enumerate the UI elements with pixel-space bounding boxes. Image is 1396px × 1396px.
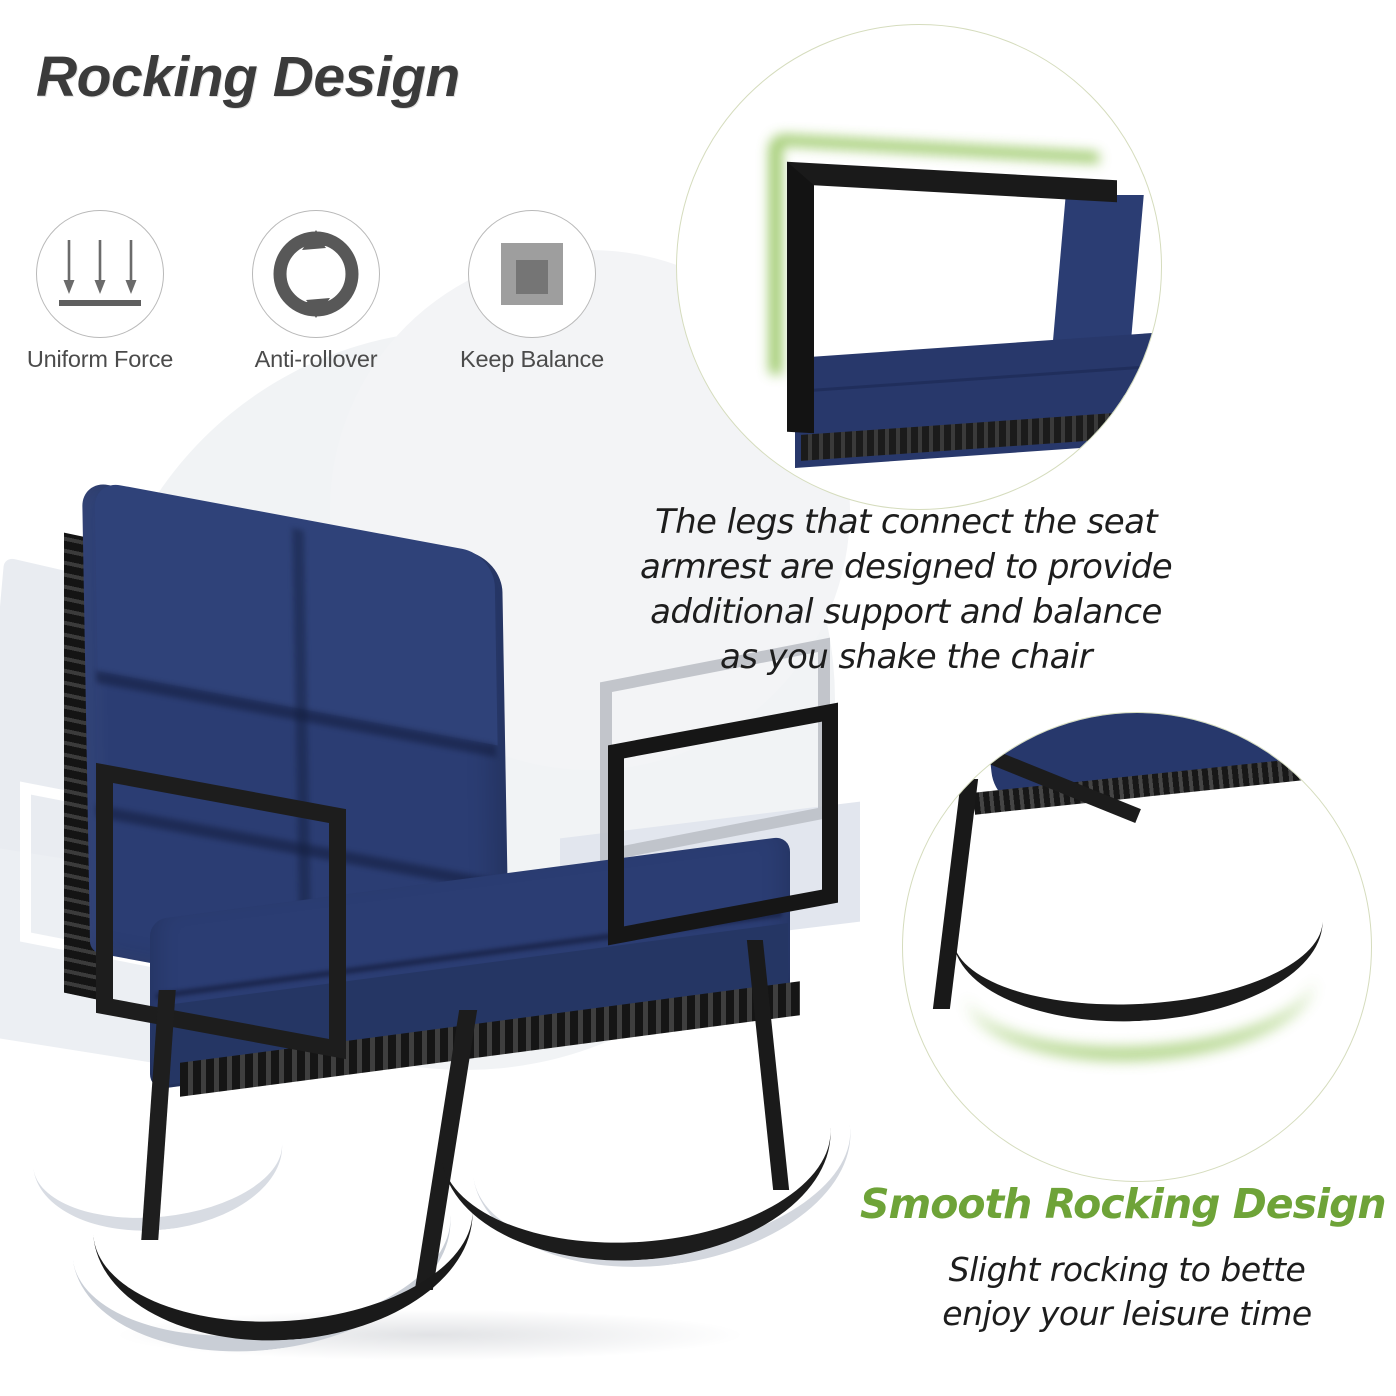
- nested-squares-icon: [468, 210, 596, 338]
- description-line: additional support and balance: [618, 590, 1194, 635]
- down-arrows-on-bar-glyph: [57, 234, 143, 314]
- caption-line: Slight rocking to bette: [858, 1248, 1396, 1292]
- smooth-rocking-caption: Slight rocking to bette enjoy your leisu…: [858, 1248, 1396, 1336]
- armrest-right: [608, 703, 838, 946]
- feature-list: Uniform Force Anti-rollover Keep Balance: [20, 210, 612, 373]
- nested-squares-inner: [516, 260, 548, 294]
- description-line: The legs that connect the seat: [618, 500, 1194, 545]
- feature-label: Uniform Force: [20, 346, 180, 373]
- feature-item-uniform-force: Uniform Force: [20, 210, 180, 373]
- armrest-left: [96, 763, 346, 1059]
- page-title: Rocking Design: [36, 44, 460, 110]
- caption-line: enjoy your leisure time: [858, 1292, 1396, 1336]
- feature-item-anti-rollover: Anti-rollover: [236, 210, 396, 373]
- feature-label: Keep Balance: [452, 346, 612, 373]
- description-line: as you shake the chair: [618, 635, 1194, 680]
- feature-label: Anti-rollover: [236, 346, 396, 373]
- circular-rotation-arrows-icon: [252, 210, 380, 338]
- feature-item-keep-balance: Keep Balance: [452, 210, 612, 373]
- inset-armrest-frame-detail: [676, 24, 1162, 510]
- smooth-rocking-heading: Smooth Rocking Design: [860, 1180, 1396, 1228]
- circular-rotation-arrows-glyph: [268, 226, 364, 322]
- description-line: armrest are designed to provide: [618, 545, 1194, 590]
- inset-rocker-rail-detail: [902, 712, 1372, 1182]
- down-arrows-on-bar-icon: [36, 210, 164, 338]
- armrest-description: The legs that connect the seat armrest a…: [618, 500, 1194, 680]
- inset-armrest-metal-frame: [787, 162, 1117, 450]
